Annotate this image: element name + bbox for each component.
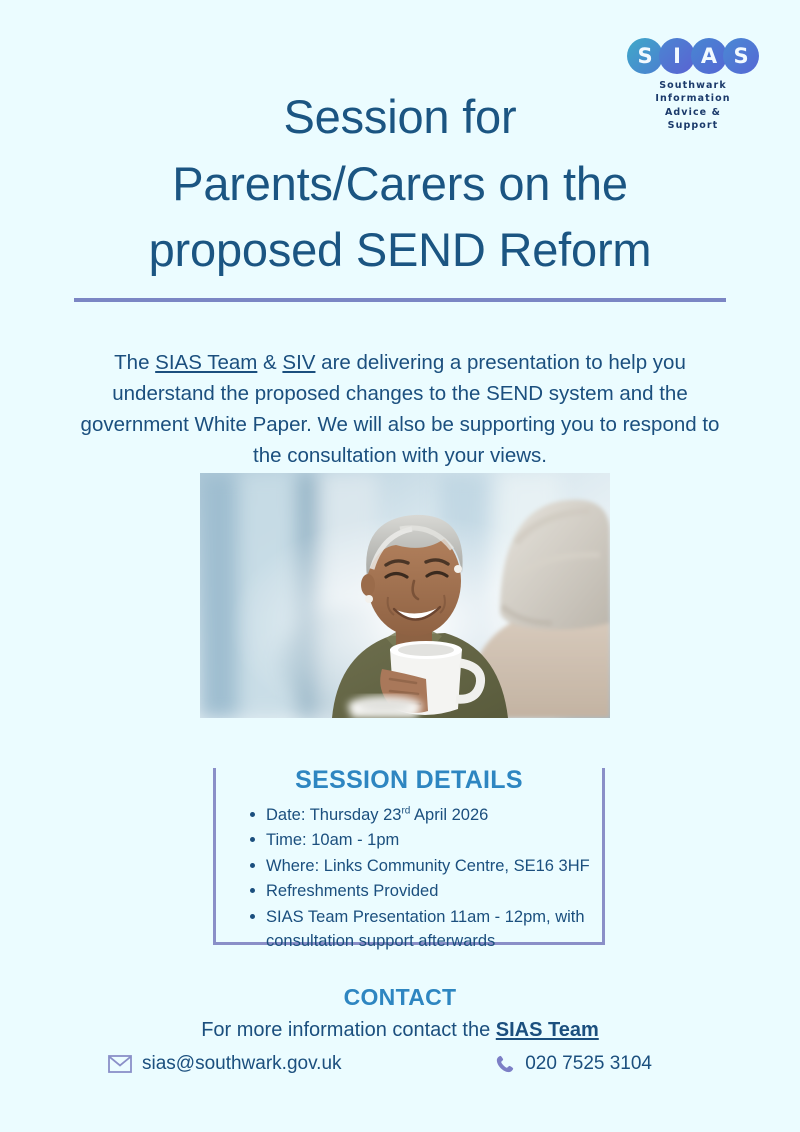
detail-date-label: Date: Thursday 23	[266, 806, 401, 824]
intro-paragraph: The SIAS Team & SIV are delivering a pre…	[78, 347, 722, 472]
page-title-line-2: Parents/Carers on the	[100, 151, 700, 218]
intro-text-1: The	[114, 351, 155, 374]
contact-email[interactable]: sias@southwark.gov.uk	[108, 1053, 342, 1075]
logo-letter-s1: S	[627, 38, 663, 74]
intro-link-siv: SIV	[282, 351, 315, 374]
contact-subtext: For more information contact the SIAS Te…	[0, 1019, 800, 1042]
logo-letter-s2: S	[723, 38, 759, 74]
contact-phone-text: 020 7525 3104	[525, 1053, 652, 1075]
envelope-icon	[108, 1055, 132, 1073]
list-item: Where: Links Community Centre, SE16 3HF	[248, 854, 593, 878]
contact-email-text: sias@southwark.gov.uk	[142, 1053, 342, 1075]
page-title-line-3: proposed SEND Reform	[100, 217, 700, 284]
session-details-list: Date: Thursday 23rd April 2026 Time: 10a…	[248, 803, 593, 954]
detail-presentation: SIAS Team Presentation 11am - 12pm, with…	[266, 908, 585, 950]
page-title-line-1: Session for	[100, 84, 700, 151]
list-item: Time: 10am - 1pm	[248, 828, 593, 852]
contact-phone[interactable]: 020 7525 3104	[495, 1053, 652, 1075]
contact-row: sias@southwark.gov.uk 020 7525 3104	[108, 1053, 692, 1075]
contact-subtext-prefix: For more information contact the	[201, 1019, 496, 1041]
detail-date-rest: April 2026	[410, 806, 488, 824]
logo-letter-i: I	[659, 38, 695, 74]
photo-illustration	[200, 473, 610, 718]
phone-icon	[495, 1054, 515, 1074]
contact-heading: CONTACT	[0, 984, 800, 1011]
detail-where: Where: Links Community Centre, SE16 3HF	[266, 857, 590, 875]
list-item: Refreshments Provided	[248, 879, 593, 903]
contact-sias-team-link: SIAS Team	[496, 1019, 599, 1041]
detail-refreshments: Refreshments Provided	[266, 882, 438, 900]
session-photo	[200, 473, 610, 718]
logo-letter-a: A	[691, 38, 727, 74]
detail-time: Time: 10am - 1pm	[266, 831, 399, 849]
list-item: Date: Thursday 23rd April 2026	[248, 803, 593, 827]
logo-circles: S I A S	[618, 38, 768, 74]
list-item: SIAS Team Presentation 11am - 12pm, with…	[248, 905, 593, 954]
page-title: Session for Parents/Carers on the propos…	[100, 84, 700, 284]
intro-link-sias-team: SIAS Team	[155, 351, 257, 374]
intro-text-2: &	[257, 351, 282, 374]
horizontal-rule	[74, 298, 726, 302]
